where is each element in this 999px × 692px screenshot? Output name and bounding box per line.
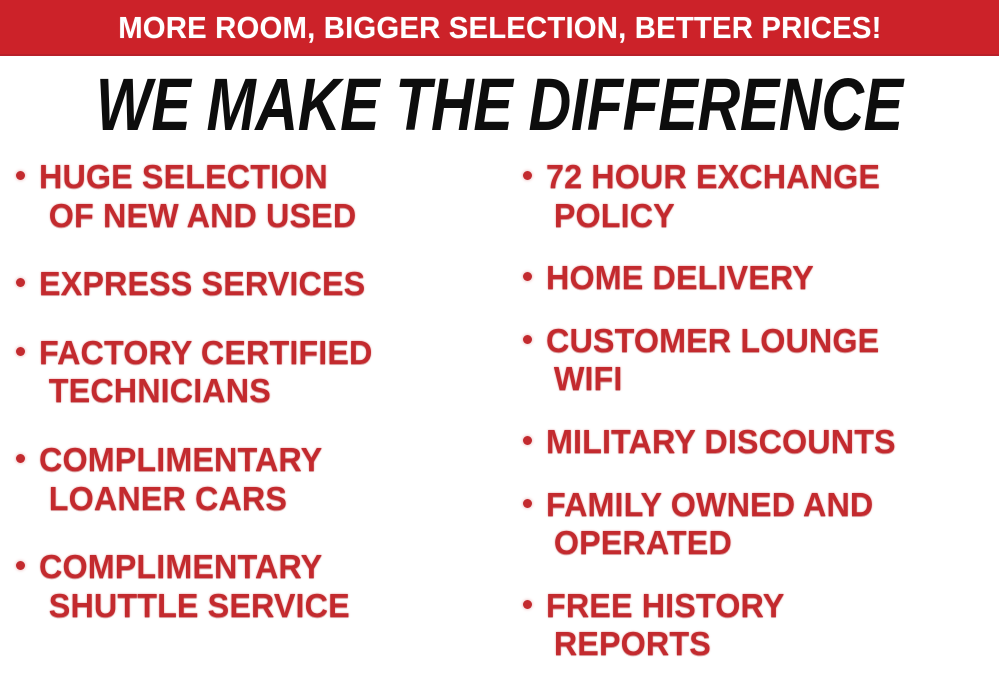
list-item-text: FACTORY CERTIFIED TECHNICIANS <box>39 334 372 411</box>
list-item-text: FREE HISTORY REPORTS <box>546 587 784 664</box>
list-item-line-1: HUGE SELECTION <box>39 158 328 195</box>
bullet-dot-icon <box>16 454 25 463</box>
list-item-line-1: EXPRESS SERVICES <box>39 265 365 302</box>
list-item-text: COMPLIMENTARY LOANER CARS <box>39 441 322 518</box>
bullet-dot-icon <box>523 436 532 445</box>
bullet-dot-icon <box>16 347 25 356</box>
list-item-line-1: FAMILY OWNED AND <box>546 486 873 523</box>
list-item-line-1: 72 HOUR EXCHANGE <box>546 158 880 195</box>
bullet-dot-icon <box>523 600 532 609</box>
list-item-text: FAMILY OWNED AND OPERATED <box>546 486 873 563</box>
list-item: FREE HISTORY REPORTS <box>523 587 999 664</box>
list-item-text: HOME DELIVERY <box>546 259 814 298</box>
list-item-line-1: CUSTOMER LOUNGE <box>546 322 879 359</box>
list-item: HUGE SELECTION OF NEW AND USED <box>16 158 505 235</box>
top-banner: MORE ROOM, BIGGER SELECTION, BETTER PRIC… <box>0 0 999 56</box>
list-item-line-2: OPERATED <box>546 524 873 563</box>
list-item: EXPRESS SERVICES <box>16 265 505 304</box>
list-item-line-1: FREE HISTORY <box>546 587 784 624</box>
benefits-column-right: 72 HOUR EXCHANGE POLICY HOME DELIVERY CU… <box>505 158 999 688</box>
bullet-dot-icon <box>523 171 532 180</box>
list-item-text: EXPRESS SERVICES <box>39 265 365 304</box>
benefits-columns: HUGE SELECTION OF NEW AND USED EXPRESS S… <box>0 158 999 692</box>
list-item-line-1: COMPLIMENTARY <box>39 441 322 478</box>
list-item-text: CUSTOMER LOUNGE WIFI <box>546 322 879 399</box>
bullet-dot-icon <box>16 171 25 180</box>
list-item: COMPLIMENTARY LOANER CARS <box>16 441 505 518</box>
list-item-text: MILITARY DISCOUNTS <box>546 423 896 462</box>
benefits-column-left: HUGE SELECTION OF NEW AND USED EXPRESS S… <box>0 158 505 655</box>
list-item-line-2: OF NEW AND USED <box>39 197 356 236</box>
list-item-line-2: TECHNICIANS <box>39 372 372 411</box>
list-item-line-1: MILITARY DISCOUNTS <box>546 423 896 460</box>
bullet-dot-icon <box>523 499 532 508</box>
dealership-benefits-billboard: MORE ROOM, BIGGER SELECTION, BETTER PRIC… <box>0 0 999 692</box>
bullet-dot-icon <box>16 561 25 570</box>
list-item: COMPLIMENTARY SHUTTLE SERVICE <box>16 548 505 625</box>
list-item-text: HUGE SELECTION OF NEW AND USED <box>39 158 356 235</box>
list-item-line-1: COMPLIMENTARY <box>39 548 322 585</box>
banner-headline-text: MORE ROOM, BIGGER SELECTION, BETTER PRIC… <box>118 12 881 43</box>
bullet-dot-icon <box>16 278 25 287</box>
page-title: WE MAKE THE DIFFERENCE <box>96 68 903 142</box>
list-item-line-1: FACTORY CERTIFIED <box>39 334 372 371</box>
list-item-line-2: SHUTTLE SERVICE <box>39 587 350 626</box>
list-item: HOME DELIVERY <box>523 259 999 298</box>
bullet-dot-icon <box>523 272 532 281</box>
list-item-text: COMPLIMENTARY SHUTTLE SERVICE <box>39 548 350 625</box>
list-item-line-2: POLICY <box>546 197 880 236</box>
list-item: FACTORY CERTIFIED TECHNICIANS <box>16 334 505 411</box>
list-item: 72 HOUR EXCHANGE POLICY <box>523 158 999 235</box>
bullet-dot-icon <box>523 335 532 344</box>
list-item-line-2: REPORTS <box>546 625 784 664</box>
list-item-line-2: WIFI <box>546 360 879 399</box>
list-item-text: 72 HOUR EXCHANGE POLICY <box>546 158 880 235</box>
list-item: CUSTOMER LOUNGE WIFI <box>523 322 999 399</box>
list-item-line-2: LOANER CARS <box>39 480 322 519</box>
list-item-line-1: HOME DELIVERY <box>546 259 814 296</box>
list-item: MILITARY DISCOUNTS <box>523 423 999 462</box>
list-item: FAMILY OWNED AND OPERATED <box>523 486 999 563</box>
headline-container: WE MAKE THE DIFFERENCE <box>0 62 999 148</box>
